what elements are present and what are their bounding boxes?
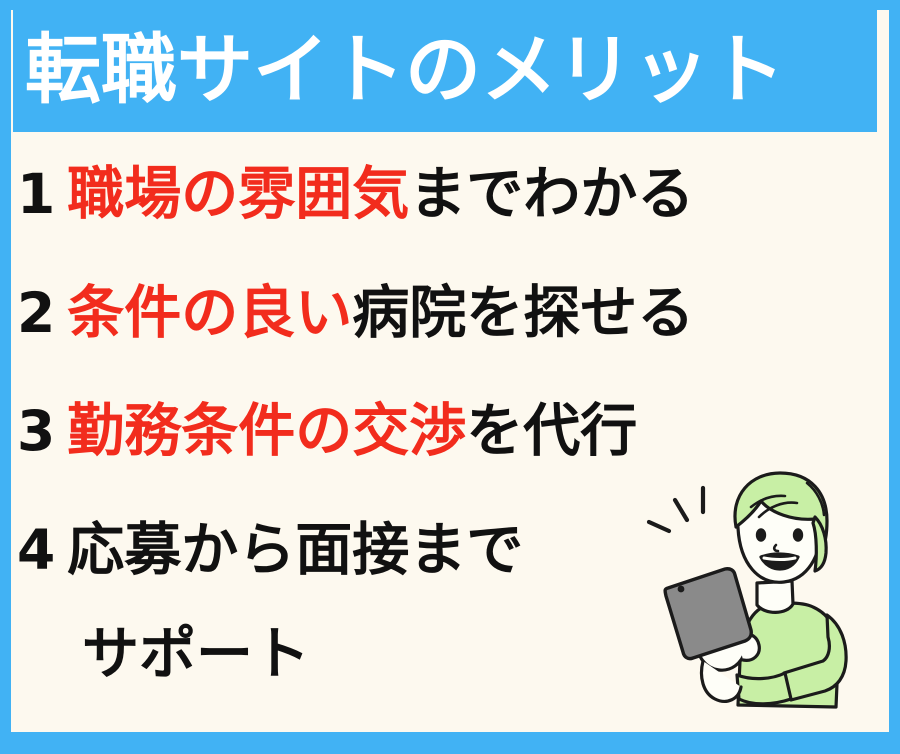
list-item-rest: 病院を探せる — [352, 280, 694, 346]
list-item-rest: までわかる — [409, 161, 694, 227]
inner-panel: 転職サイトのメリット 1職場の雰囲気までわかる 2条件の良い病院を探せる 3勤務… — [11, 10, 889, 732]
list-item-number: 2 — [17, 286, 67, 341]
neck — [757, 581, 793, 612]
list-item: 2条件の良い病院を探せる — [17, 285, 694, 342]
eye-left — [756, 528, 766, 542]
list-item-highlight: 職場の雰囲気 — [67, 161, 409, 227]
list-item: 1職場の雰囲気までわかる — [17, 166, 694, 223]
list-item-second-line: サポート — [82, 621, 310, 687]
teeth — [764, 558, 795, 560]
list-item-rest: を代行 — [466, 398, 637, 464]
phone-camera-icon — [678, 586, 685, 593]
shirt-sleeve-forearm — [737, 673, 791, 704]
list-item-number: 1 — [17, 167, 67, 222]
sparkle-icon — [649, 488, 703, 531]
header-banner: 転職サイトのメリット — [13, 10, 877, 132]
eye-right — [793, 528, 803, 542]
list-item: 4応募から面接まで — [17, 522, 523, 579]
illustration-svg — [641, 465, 889, 732]
list-item-highlight: 勤務条件の交渉 — [67, 398, 466, 464]
list-item-rest: 応募から面接まで — [67, 517, 523, 583]
list-item-continuation: サポート — [82, 626, 310, 683]
page-title: 転職サイトのメリット — [13, 32, 785, 108]
poster-root: 転職サイトのメリット 1職場の雰囲気までわかる 2条件の良い病院を探せる 3勤務… — [0, 0, 900, 754]
list-item-number: 3 — [17, 404, 67, 459]
list-item: 3勤務条件の交渉を代行 — [17, 403, 637, 460]
list-item-number: 4 — [17, 523, 67, 578]
person-using-smartphone-illustration — [641, 465, 889, 732]
list-item-highlight: 条件の良い — [67, 280, 352, 346]
